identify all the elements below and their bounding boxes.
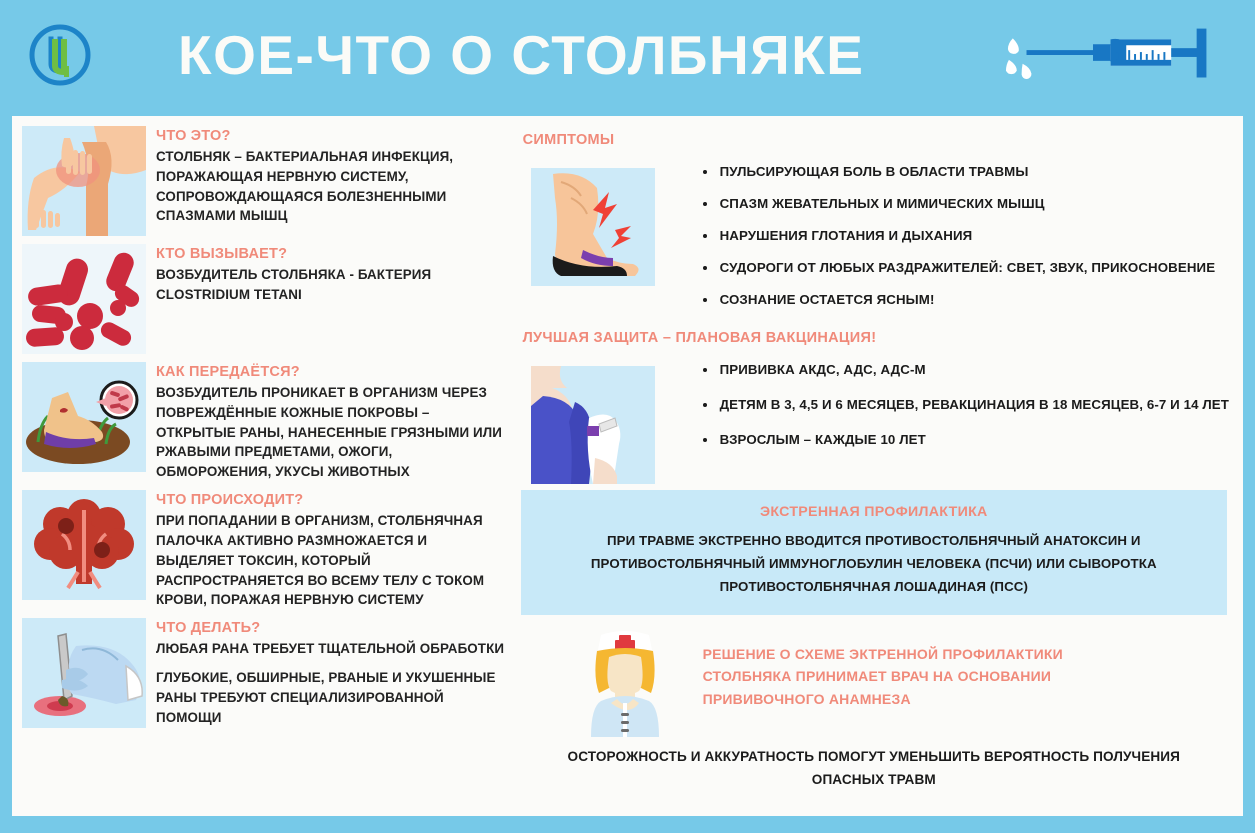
vaccination-list: ПРИВИВКА АКДС, АДС, АДС-М ДЕТЯМ В 3, 4,5… — [703, 362, 1229, 467]
section-what-to-do: ЧТО ДЕЛАТЬ? ЛЮБАЯ РАНА ТРЕБУЕТ ТЩАТЕЛЬНО… — [22, 618, 507, 728]
doctor-note-block: РЕШЕНИЕ О СХЕМЕ ЭКТРЕННОЙ ПРОФИЛАКТИКИ С… — [519, 629, 1229, 739]
foot-wound-soil-illustration — [22, 362, 146, 472]
section-body: ПРИ ПОПАДАНИИ В ОРГАНИЗМ, СТОЛБНЯЧНАЯ ПА… — [156, 511, 507, 610]
section-body: ВОЗБУДИТЕЛЬ ПРОНИКАЕТ В ОРГАНИЗМ ЧЕРЕЗ П… — [156, 383, 507, 482]
section-heading: ЧТО ДЕЛАТЬ? — [156, 620, 507, 636]
list-item: НАРУШЕНИЯ ГЛОТАНИЯ И ДЫХАНИЯ — [703, 228, 1229, 243]
list-item: ПРИВИВКА АКДС, АДС, АДС-М — [703, 362, 1229, 377]
list-item: СУДОРОГИ ОТ ЛЮБЫХ РАЗДРАЖИТЕЛЕЙ: СВЕТ, З… — [703, 260, 1229, 275]
emergency-line-2: ПРОТИВОСТОЛБНЯЧНЫЙ ИММУНОГЛОБУЛИН ЧЕЛОВЕ… — [539, 553, 1209, 576]
section-heading: КАК ПЕРЕДАЁТСЯ? — [156, 364, 507, 380]
doctor-note-text: РЕШЕНИЕ О СХЕМЕ ЭКТРЕННОЙ ПРОФИЛАКТИКИ С… — [703, 643, 1229, 711]
list-item: ВЗРОСЛЫМ – КАЖДЫЕ 10 ЛЕТ — [703, 432, 1229, 447]
section-body: СТОЛБНЯК – БАКТЕРИАЛЬНАЯ ИНФЕКЦИЯ, ПОРАЖ… — [156, 147, 507, 226]
list-item: СОЗНАНИЕ ОСТАЕТСЯ ЯСНЫМ! — [703, 292, 1229, 307]
footer-line-1: ОСТОРОЖНОСТЬ И АККУРАТНОСТЬ ПОМОГУТ УМЕН… — [529, 745, 1219, 768]
vaccination-heading: ЛУЧШАЯ ЗАЩИТА – ПЛАНОВАЯ ВАКЦИНАЦИЯ! — [523, 330, 1229, 346]
section-body-secondary: ГЛУБОКИЕ, ОБШИРНЫЕ, РВАНЫЕ И УКУШЕННЫЕ Р… — [156, 668, 507, 727]
section-text: ЧТО ДЕЛАТЬ? ЛЮБАЯ РАНА ТРЕБУЕТ ТЩАТЕЛЬНО… — [156, 618, 507, 727]
section-heading: КТО ВЫЗЫВАЕТ? — [156, 246, 507, 262]
brain-graphic — [22, 490, 146, 600]
left-column: ЧТО ЭТО? СТОЛБНЯК – БАКТЕРИАЛЬНАЯ ИНФЕКЦ… — [12, 116, 513, 816]
bacteria-illustration — [22, 244, 146, 354]
right-column: СИМПТОМЫ — [513, 116, 1243, 816]
section-text: ЧТО ЭТО? СТОЛБНЯК – БАКТЕРИАЛЬНАЯ ИНФЕКЦ… — [156, 126, 507, 226]
poster-title: КОЕ-ЧТО О СТОЛБНЯКЕ — [120, 28, 1005, 83]
foot-soil-graphic — [22, 362, 146, 472]
injured-foot-graphic — [531, 168, 655, 286]
poster-header: КОЕ-ЧТО О СТОЛБНЯКЕ — [0, 0, 1255, 110]
section-body: ВОЗБУДИТЕЛЬ СТОЛБНЯКА - БАКТЕРИЯ CLOSTRI… — [156, 265, 507, 305]
syringe-icon — [1005, 0, 1255, 110]
syringe-glyph — [1005, 20, 1225, 90]
section-heading: ЧТО ЭТО? — [156, 128, 507, 144]
symptoms-list: ПУЛЬСИРУЮЩАЯ БОЛЬ В ОБЛАСТИ ТРАВМЫ СПАЗМ… — [703, 164, 1229, 324]
list-item: ПУЛЬСИРУЮЩАЯ БОЛЬ В ОБЛАСТИ ТРАВМЫ — [703, 164, 1229, 179]
doctor-note-line-2: СТОЛБНЯКА ПРИНИМАЕТ ВРАЧ НА ОСНОВАНИИ — [703, 665, 1229, 688]
emergency-line-1: ПРИ ТРАВМЕ ЭКСТРЕННО ВВОДИТСЯ ПРОТИВОСТО… — [539, 530, 1209, 553]
section-what-is-it: ЧТО ЭТО? СТОЛБНЯК – БАКТЕРИАЛЬНАЯ ИНФЕКЦ… — [22, 126, 507, 236]
brain-illustration — [22, 490, 146, 600]
vaccination-shoulder-illustration — [531, 366, 655, 484]
section-how-transmitted: КАК ПЕРЕДАЁТСЯ? ВОЗБУДИТЕЛЬ ПРОНИКАЕТ В … — [22, 362, 507, 482]
nurse-graphic — [571, 629, 679, 737]
content-card: ЧТО ЭТО? СТОЛБНЯК – БАКТЕРИАЛЬНАЯ ИНФЕКЦ… — [12, 116, 1243, 816]
emergency-prophylaxis-box: ЭКСТРЕННАЯ ПРОФИЛАКТИКА ПРИ ТРАВМЕ ЭКСТР… — [521, 490, 1227, 615]
section-body: ЛЮБАЯ РАНА ТРЕБУЕТ ТЩАТЕЛЬНОЙ ОБРАБОТКИ — [156, 639, 507, 659]
section-what-happens: ЧТО ПРОИСХОДИТ? ПРИ ПОПАДАНИИ В ОРГАНИЗМ… — [22, 490, 507, 610]
emergency-title: ЭКСТРЕННАЯ ПРОФИЛАКТИКА — [539, 504, 1209, 520]
knee-pain-graphic — [22, 126, 146, 236]
tetanus-infographic-poster: КОЕ-ЧТО О СТОЛБНЯКЕ — [0, 0, 1255, 833]
bacteria-graphic — [22, 244, 146, 354]
clinic-logo — [0, 0, 120, 110]
knee-pain-illustration — [22, 126, 146, 236]
vaccination-block: ПРИВИВКА АКДС, АДС, АДС-М ДЕТЯМ В 3, 4,5… — [519, 352, 1229, 484]
wound-treatment-illustration — [22, 618, 146, 728]
nurse-illustration — [565, 629, 685, 739]
list-item: СПАЗМ ЖЕВАТЕЛЬНЫХ И МИМИЧЕСКИХ МЫШЦ — [703, 196, 1229, 211]
emergency-line-3: ПРОТИВОСТОЛБНЯЧНАЯ ЛОШАДИНАЯ (ПСС) — [539, 576, 1209, 599]
doctor-note-line-1: РЕШЕНИЕ О СХЕМЕ ЭКТРЕННОЙ ПРОФИЛАКТИКИ — [703, 643, 1229, 666]
section-text: КТО ВЫЗЫВАЕТ? ВОЗБУДИТЕЛЬ СТОЛБНЯКА - БА… — [156, 244, 507, 305]
wound-treatment-graphic — [22, 618, 146, 728]
doctor-note-line-3: ПРИВИВОЧНОГО АНАМНЕЗА — [703, 688, 1229, 711]
vaccination-graphic — [531, 366, 655, 484]
section-heading: ЧТО ПРОИСХОДИТ? — [156, 492, 507, 508]
clinic-logo-icon — [27, 22, 93, 88]
list-item: ДЕТЯМ В 3, 4,5 И 6 МЕСЯЦЕВ, РЕВАКЦИНАЦИЯ… — [703, 397, 1229, 412]
section-who-causes: КТО ВЫЗЫВАЕТ? ВОЗБУДИТЕЛЬ СТОЛБНЯКА - БА… — [22, 244, 507, 354]
symptoms-block: ПУЛЬСИРУЮЩАЯ БОЛЬ В ОБЛАСТИ ТРАВМЫ СПАЗМ… — [519, 154, 1229, 324]
symptoms-heading: СИМПТОМЫ — [523, 132, 1229, 148]
injured-foot-illustration — [531, 168, 655, 286]
footer-line-2: ОПАСНЫХ ТРАВМ — [529, 768, 1219, 791]
section-text: КАК ПЕРЕДАЁТСЯ? ВОЗБУДИТЕЛЬ ПРОНИКАЕТ В … — [156, 362, 507, 482]
section-text: ЧТО ПРОИСХОДИТ? ПРИ ПОПАДАНИИ В ОРГАНИЗМ… — [156, 490, 507, 610]
footer-caution-note: ОСТОРОЖНОСТЬ И АККУРАТНОСТЬ ПОМОГУТ УМЕН… — [519, 745, 1229, 792]
